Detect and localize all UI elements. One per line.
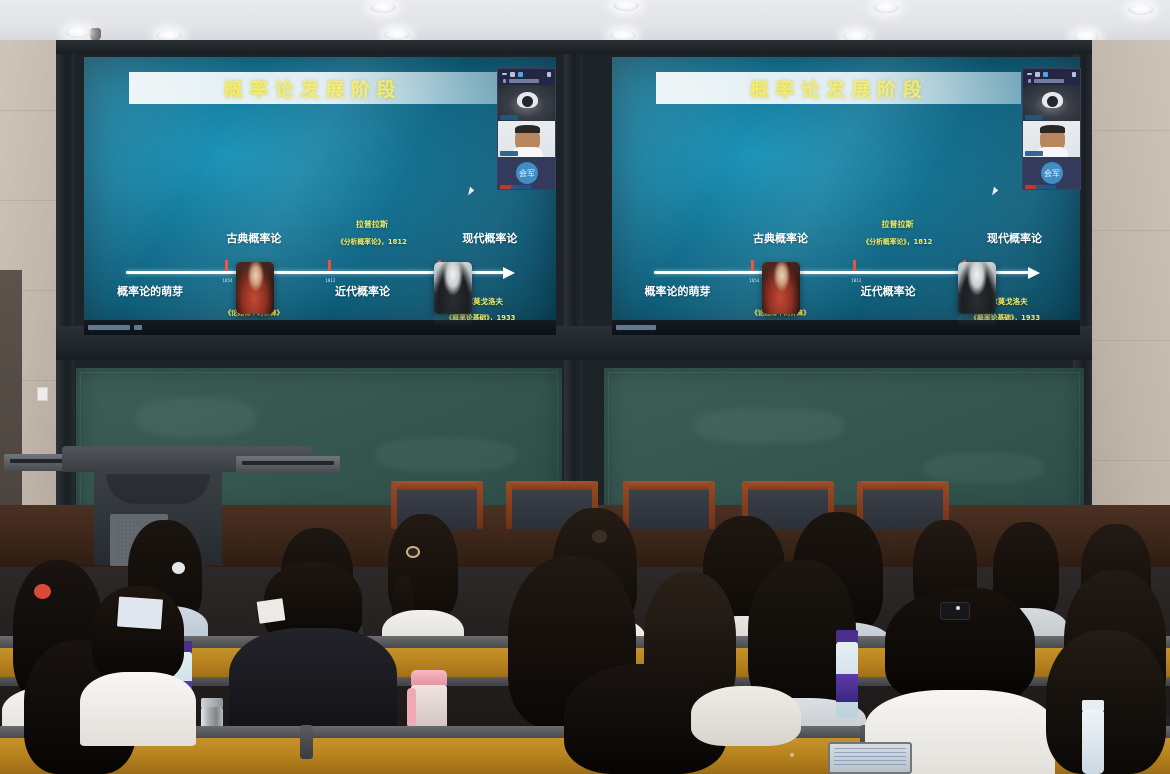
stage-label-sprout: 概率论的萌芽 — [645, 285, 711, 299]
kolmogorov-portrait — [434, 262, 472, 314]
close-icon[interactable] — [518, 72, 523, 77]
video-conference-panel[interactable]: 会军 — [1022, 68, 1081, 190]
vc-avatar-text: 会军 — [519, 168, 535, 179]
timeline-tick-label: 1812 — [325, 278, 335, 283]
close-icon[interactable] — [1043, 72, 1048, 77]
hair-accessory — [592, 530, 607, 543]
lectern-wing-right — [236, 456, 340, 473]
stage-label-modern: 现代概率论 — [462, 232, 517, 246]
mouse-cursor — [468, 187, 475, 197]
vc-titlebar[interactable] — [498, 69, 555, 85]
participant-count-label — [1028, 79, 1031, 83]
light-switch[interactable] — [37, 387, 48, 401]
frame-rail-top — [56, 40, 1092, 54]
maximize-icon[interactable] — [1035, 72, 1040, 77]
bottle-clear-right[interactable] — [1082, 700, 1104, 774]
timeline-tick-label: 1654 — [749, 278, 759, 283]
ceiling-light — [370, 2, 396, 13]
vc-titlebar[interactable] — [1023, 69, 1080, 85]
bottle-body — [1082, 710, 1104, 774]
video-conference-panel[interactable]: 会军 — [497, 68, 556, 190]
vc-tile-avatar[interactable]: 会军 — [498, 157, 555, 190]
ceiling-light — [384, 29, 410, 40]
vc-tile-speaker[interactable] — [498, 121, 555, 157]
minimize-icon[interactable] — [1027, 73, 1032, 75]
ceiling-light — [873, 2, 899, 13]
student — [238, 562, 388, 722]
kolmogorov-portrait-reflection — [958, 314, 996, 327]
student — [386, 514, 460, 642]
stage-label-classic: 古典概率论 — [226, 232, 281, 246]
stage-label-modernn: 近代概率论 — [861, 285, 916, 299]
timeline-tick — [225, 260, 228, 271]
maximize-icon[interactable] — [510, 72, 515, 77]
slide-title-text: 概率论发展阶段 — [224, 75, 402, 102]
phone-device[interactable] — [940, 602, 970, 620]
annotation-laplace-name: 拉普拉斯 — [356, 220, 388, 230]
annotation-laplace-name: 拉普拉斯 — [881, 220, 913, 230]
bottle-purple-right[interactable] — [836, 630, 858, 718]
timeline-tick-label: 1812 — [851, 278, 861, 283]
student — [686, 686, 806, 774]
vc-nametag — [500, 115, 518, 120]
student-laptop[interactable] — [828, 742, 912, 774]
left-projection-screen[interactable]: 概率论发展阶段 1654 1812 1933 概率论的萌芽 古典概率论 近代概率… — [84, 57, 556, 335]
bottle-label — [836, 674, 858, 702]
annotation-laplace-work: 《分析概率论》，1812 — [863, 238, 933, 246]
stage-label-modernn: 近代概率论 — [335, 285, 390, 299]
slide-title-banner: 概率论发展阶段 — [656, 72, 1021, 104]
vc-nametag — [500, 151, 518, 156]
student — [1042, 630, 1170, 774]
hair-accessory — [406, 546, 420, 558]
participant-list-text — [1034, 79, 1064, 83]
huygens-portrait — [236, 262, 274, 314]
participant-count-label — [503, 79, 506, 83]
timeline-tick-label: 1654 — [222, 278, 232, 283]
mouse-cursor — [992, 187, 999, 197]
axis-arrow-icon — [1028, 267, 1040, 279]
vc-tile-room-camera[interactable] — [1023, 85, 1080, 121]
left-door[interactable] — [0, 270, 22, 520]
vc-tile-avatar[interactable]: 会军 — [1023, 157, 1080, 190]
annotation-laplace-work: 《分析概率论》，1812 — [337, 238, 407, 246]
slide-title-text: 概率论发展阶段 — [750, 75, 928, 102]
panel-menu-icon[interactable] — [547, 72, 551, 77]
screen-taskbar — [84, 320, 556, 335]
huygens-portrait — [762, 262, 800, 314]
vc-nametag — [1025, 115, 1043, 120]
huygens-portrait-reflection — [236, 314, 274, 327]
slide-title-banner: 概率论发展阶段 — [129, 72, 497, 104]
frame-post-left — [56, 40, 75, 570]
vc-nametag — [1036, 185, 1056, 190]
panel-menu-icon[interactable] — [1072, 72, 1076, 77]
ceiling-light — [1128, 4, 1154, 15]
vc-nametag — [511, 185, 531, 190]
lecture-hall-scene: 概率论发展阶段 1654 1812 1933 概率论的萌芽 古典概率论 近代概率… — [0, 0, 1170, 774]
vc-tile-speaker[interactable] — [1023, 121, 1080, 157]
hair-accessory — [34, 584, 51, 599]
paper-sheet[interactable] — [257, 598, 286, 623]
stage-label-sprout: 概率论的萌芽 — [117, 285, 183, 299]
vc-avatar-circle: 会军 — [516, 162, 538, 184]
minimize-icon[interactable] — [502, 73, 507, 75]
stage-label-modern: 现代概率论 — [987, 232, 1042, 246]
huygens-portrait-reflection — [762, 314, 800, 327]
kolmogorov-portrait-reflection — [434, 314, 472, 327]
vc-nametag — [1025, 151, 1043, 156]
ceiling-light — [65, 27, 91, 38]
right-projection-screen[interactable]: 概率论发展阶段 1654 1812 1933 概率论的萌芽 古典概率论 近代概率… — [612, 57, 1080, 335]
vc-tile-room-camera[interactable] — [498, 85, 555, 121]
timeline-tick — [853, 260, 856, 271]
timeline-tick — [328, 260, 331, 271]
screen-taskbar — [612, 320, 1080, 335]
paper-sheet[interactable] — [117, 597, 163, 630]
bottle-strap — [407, 688, 416, 728]
vc-avatar-text: 会军 — [1044, 168, 1060, 179]
participant-list-text — [509, 79, 539, 83]
axis-arrow-icon — [503, 267, 515, 279]
kolmogorov-portrait — [958, 262, 996, 314]
bottle-cap — [411, 670, 447, 686]
timeline-tick — [751, 260, 754, 271]
vc-avatar-circle: 会军 — [1041, 162, 1063, 184]
ceiling-light — [613, 0, 639, 11]
stage-label-classic: 古典概率论 — [753, 232, 808, 246]
hair-accessory — [172, 562, 185, 574]
